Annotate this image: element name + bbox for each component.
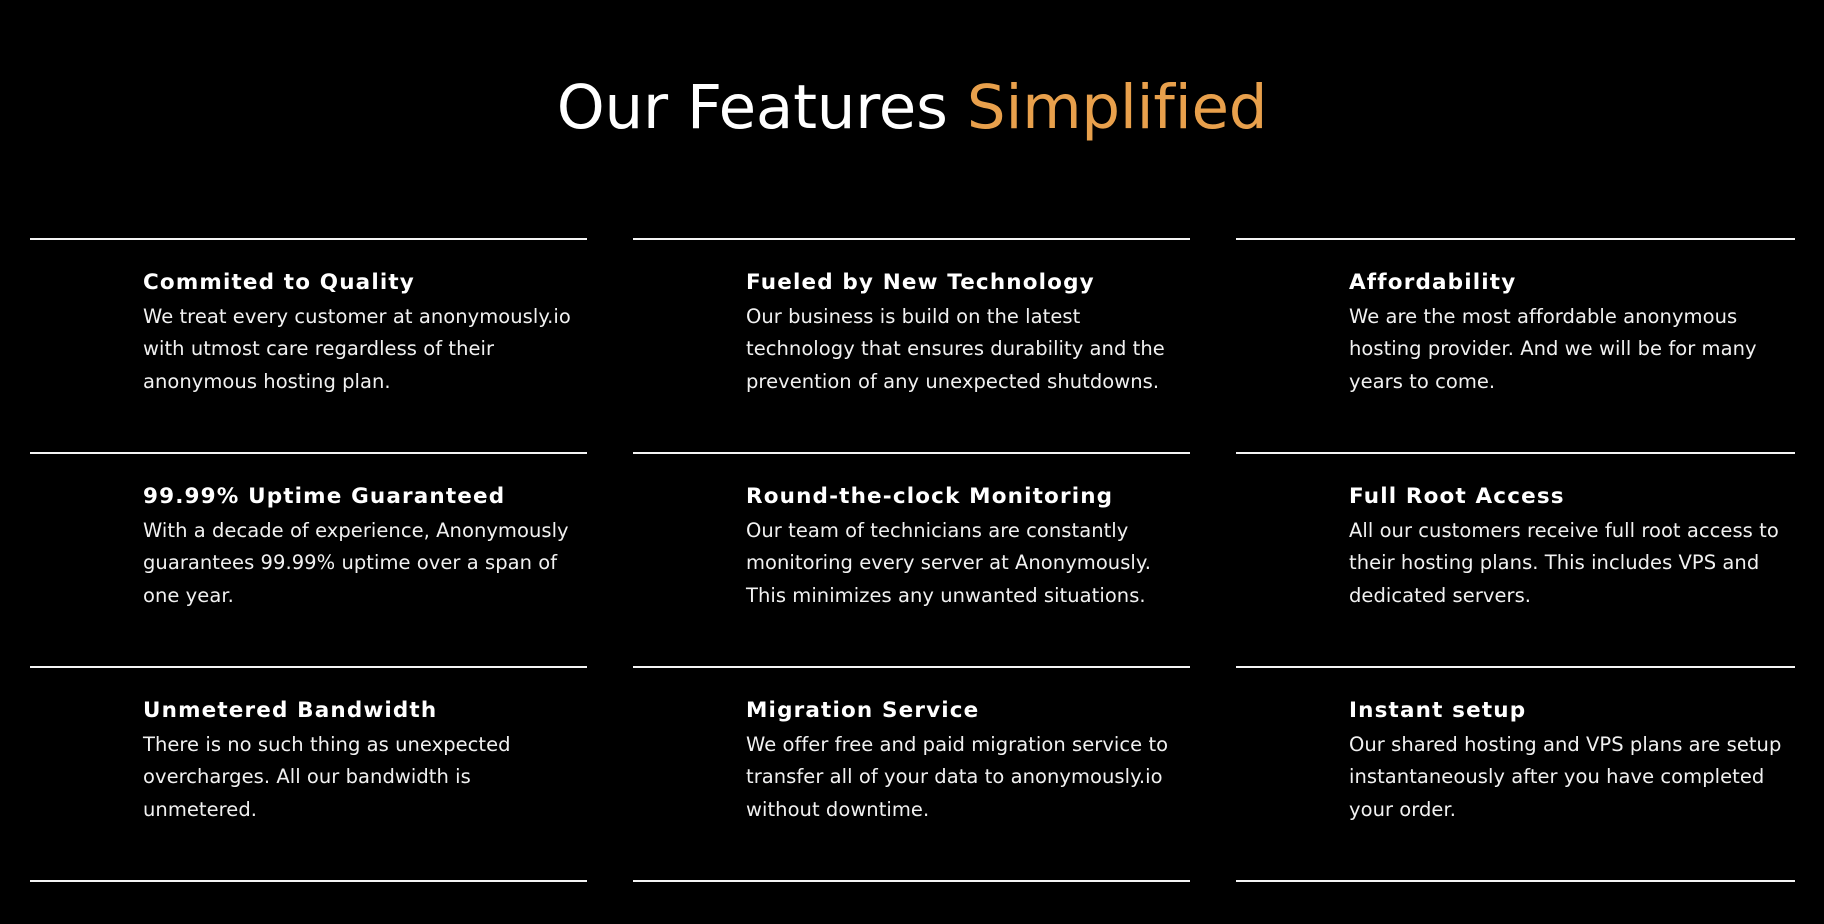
feature-description: Our team of technicians are constantly m… [746,515,1186,613]
feature-description: We offer free and paid migration service… [746,729,1186,827]
divider-bottom-col3 [1236,880,1795,882]
feature-card-full-root-access[interactable]: Full Root Access All our customers recei… [1236,452,1795,666]
feature-title: Unmetered Bandwidth [143,698,583,725]
feature-title: Instant setup [1349,698,1791,725]
feature-title: Affordability [1349,270,1791,297]
feature-title: Round-the-clock Monitoring [746,484,1186,511]
feature-title: Commited to Quality [143,270,583,297]
feature-title: Migration Service [746,698,1186,725]
feature-card-migration-service[interactable]: Migration Service We offer free and paid… [633,666,1190,880]
divider-bottom-col1 [30,880,587,882]
feature-description: We are the most affordable anonymous hos… [1349,301,1791,399]
features-section: Our Features Simplified Commited to Qual… [0,0,1824,924]
feature-description: There is no such thing as unexpected ove… [143,729,583,827]
feature-description: All our customers receive full root acce… [1349,515,1791,613]
feature-card-affordability[interactable]: Affordability We are the most affordable… [1236,238,1795,452]
feature-card-round-the-clock-monitoring[interactable]: Round-the-clock Monitoring Our team of t… [633,452,1190,666]
feature-card-unmetered-bandwidth[interactable]: Unmetered Bandwidth There is no such thi… [30,666,587,880]
feature-card-fueled-by-new-technology[interactable]: Fueled by New Technology Our business is… [633,238,1190,452]
feature-title: Full Root Access [1349,484,1791,511]
feature-card-commited-to-quality[interactable]: Commited to Quality We treat every custo… [30,238,587,452]
feature-description: With a decade of experience, Anonymously… [143,515,583,613]
divider-bottom-col2 [633,880,1190,882]
feature-description: Our business is build on the latest tech… [746,301,1186,399]
feature-card-uptime-guaranteed[interactable]: 99.99% Uptime Guaranteed With a decade o… [30,452,587,666]
feature-description: We treat every customer at anonymously.i… [143,301,583,399]
feature-grid: Commited to Quality We treat every custo… [30,238,1795,880]
page-title-accent: Simplified [967,72,1267,143]
feature-title: 99.99% Uptime Guaranteed [143,484,583,511]
feature-description: Our shared hosting and VPS plans are set… [1349,729,1791,827]
page-title-plain: Our Features [557,72,967,143]
page-title: Our Features Simplified [0,73,1824,143]
grid-bottom-dividers [30,880,1795,882]
feature-title: Fueled by New Technology [746,270,1186,297]
feature-card-instant-setup[interactable]: Instant setup Our shared hosting and VPS… [1236,666,1795,880]
